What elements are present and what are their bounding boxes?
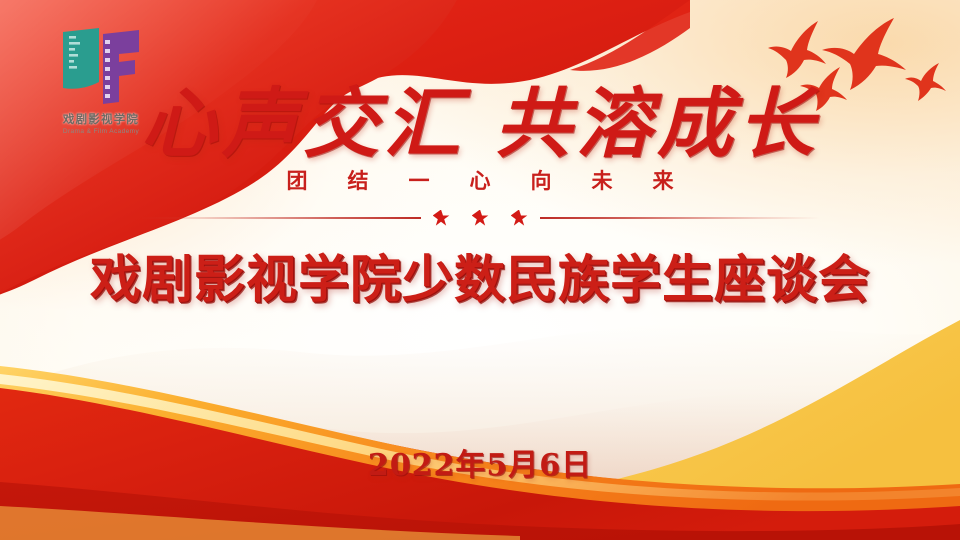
divider-line-left (141, 217, 421, 219)
star-icon (433, 210, 450, 227)
slogan-text: 团结一心向未来 (247, 169, 714, 193)
calligraphy-phrase-1: 心声交汇 (141, 79, 465, 168)
calligraphy-phrase-2: 共溶成长 (495, 79, 819, 168)
star-divider (0, 206, 960, 230)
slogan-line: 团结一心向未来 (0, 165, 960, 195)
event-date-text: 2022年5月6日 (368, 448, 592, 483)
event-title: 戏剧影视学院少数民族学生座谈会 (0, 238, 960, 312)
star-icon (511, 210, 528, 227)
event-date: 2022年5月6日 (0, 440, 960, 484)
divider-stars (421, 210, 540, 227)
event-banner: 戏剧影视学院 Drama & Film Academy 心声交汇共溶成长 团结一… (0, 0, 960, 540)
calligraphy-headline: 心声交汇共溶成长 (0, 62, 960, 172)
event-title-text: 戏剧影视学院少数民族学生座谈会 (90, 251, 870, 310)
star-icon (472, 210, 489, 227)
divider-line-right (540, 217, 820, 219)
